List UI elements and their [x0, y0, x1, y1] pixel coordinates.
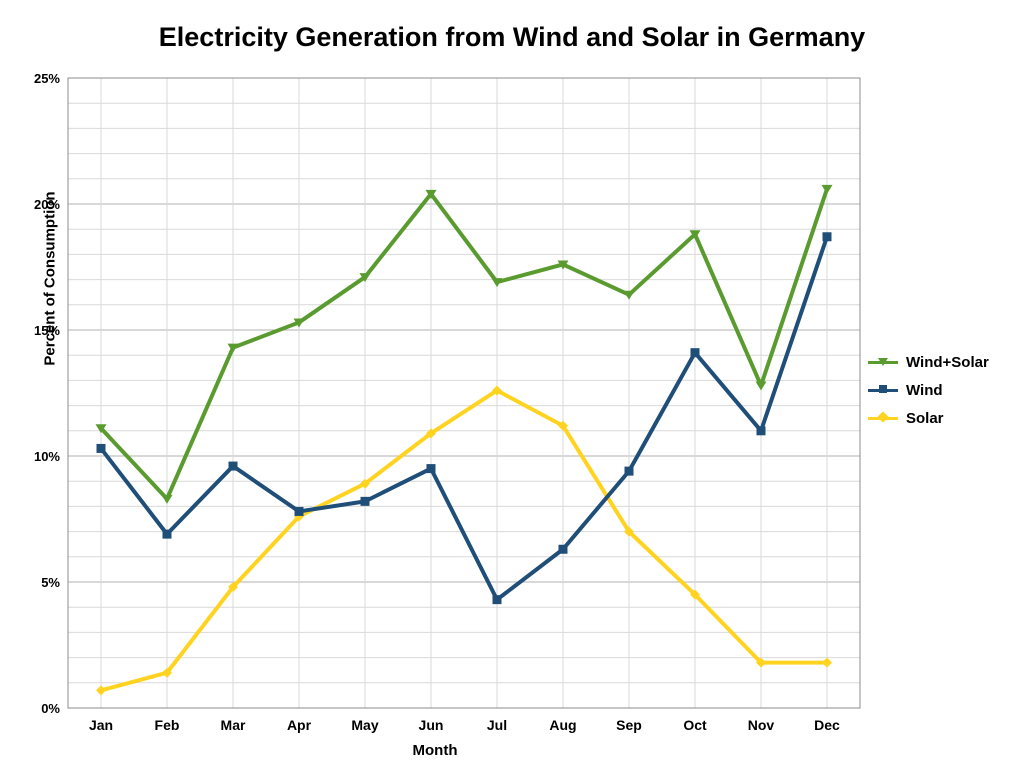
y-tick-label: 25% [34, 71, 60, 86]
data-point [427, 464, 436, 473]
x-tick-label: Nov [748, 717, 775, 733]
legend-item-wind: Wind [868, 376, 989, 404]
legend-swatch-solar [868, 409, 898, 427]
y-tick-label: 20% [34, 197, 60, 212]
x-tick-label: Apr [287, 717, 312, 733]
x-tick-label: May [351, 717, 378, 733]
x-tick-label: Aug [549, 717, 576, 733]
legend-label-wind: Wind [906, 382, 943, 399]
y-tick-label: 0% [41, 701, 60, 716]
x-tick-label: Jul [487, 717, 507, 733]
data-point [163, 530, 172, 539]
x-tick-label: Oct [683, 717, 707, 733]
y-tick-label: 10% [34, 449, 60, 464]
data-point [162, 495, 173, 504]
legend-label-solar: Solar [906, 410, 944, 427]
data-point [624, 291, 635, 300]
y-tick-label: 5% [41, 575, 60, 590]
legend-label-wind-solar: Wind+Solar [906, 354, 989, 371]
data-point [96, 685, 106, 695]
chart-legend: Wind+Solar Wind Solar [868, 348, 989, 432]
data-point [625, 467, 634, 476]
x-tick-label: Jun [419, 717, 444, 733]
x-tick-label: Mar [221, 717, 246, 733]
data-point [493, 595, 502, 604]
legend-swatch-wind [868, 381, 898, 399]
legend-swatch-wind-solar [868, 353, 898, 371]
data-point [757, 426, 766, 435]
data-point [97, 444, 106, 453]
x-tick-label: Jan [89, 717, 113, 733]
data-point [756, 381, 767, 390]
chart-container: Electricity Generation from Wind and Sol… [0, 0, 1024, 768]
y-tick-label: 15% [34, 323, 60, 338]
data-point [822, 185, 833, 194]
series-line [101, 390, 827, 690]
data-point [559, 545, 568, 554]
data-point [823, 232, 832, 241]
data-point [691, 348, 700, 357]
data-point [822, 658, 832, 668]
data-point [295, 507, 304, 516]
legend-item-wind-solar: Wind+Solar [868, 348, 989, 376]
x-tick-label: Dec [814, 717, 840, 733]
data-point [361, 497, 370, 506]
plot-border [68, 78, 860, 708]
legend-item-solar: Solar [868, 404, 989, 432]
series-line [101, 189, 827, 499]
data-point [229, 462, 238, 471]
x-tick-label: Feb [155, 717, 180, 733]
x-tick-label: Sep [616, 717, 642, 733]
